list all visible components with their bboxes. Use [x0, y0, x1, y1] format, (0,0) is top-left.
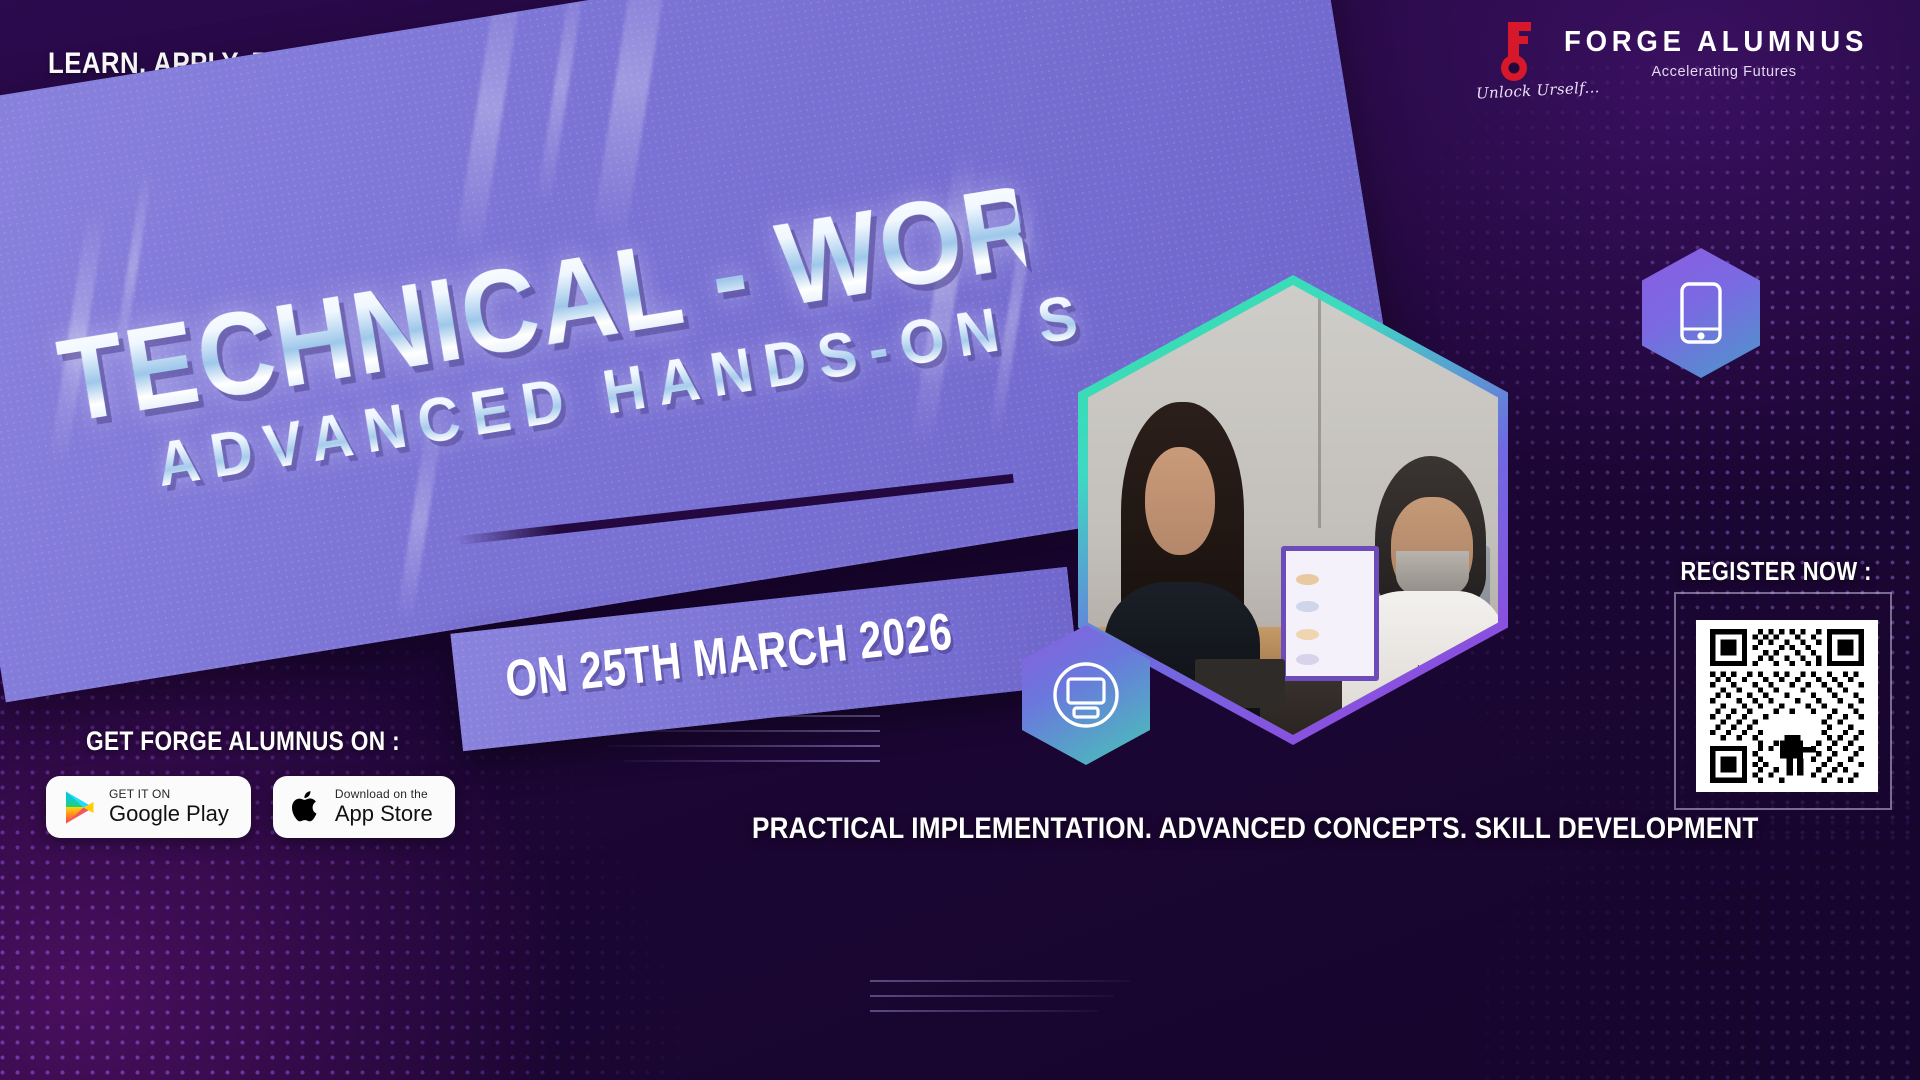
store-badge-small-text: Download on the	[335, 788, 433, 801]
register-now-label: REGISTER NOW :	[1681, 556, 1872, 587]
desktop-monitor-icon	[1048, 657, 1124, 733]
store-badge-name: App Store	[335, 802, 433, 826]
event-date: ON 25TH MARCH 2026	[503, 602, 956, 710]
app-store-badges: GET IT ON Google Play Download on the Ap…	[46, 776, 455, 838]
brand-slogan: Unlock Urself...	[1476, 79, 1577, 102]
google-play-icon	[64, 790, 96, 825]
mobile-phone-badge	[1642, 248, 1760, 378]
brand-mark: Unlock Urself...	[1490, 18, 1552, 98]
key-f-logo-icon	[1494, 20, 1548, 84]
brand-subtitle: Accelerating Futures	[1569, 63, 1879, 80]
shirt-logo: HACKFORGE	[1417, 665, 1465, 672]
decorative-lines-bottom	[870, 980, 1140, 1025]
footer-tagline: PRACTICAL IMPLEMENTATION. ADVANCED CONCE…	[752, 812, 1758, 846]
brand-name: FORGE ALUMNUS	[1564, 28, 1868, 57]
qr-code[interactable]	[1696, 620, 1878, 792]
qr-frame	[1674, 592, 1892, 810]
get-app-label: GET FORGE ALUMNUS ON :	[86, 726, 400, 757]
brand-logo: Unlock Urself... FORGE ALUMNUS Accelerat…	[1490, 18, 1884, 98]
app-store-badge[interactable]: Download on the App Store	[273, 776, 455, 838]
google-play-badge[interactable]: GET IT ON Google Play	[46, 776, 251, 838]
promo-banner: LEARN. APPLY. EXCEL. Unlock Urself... FO…	[0, 0, 1920, 1080]
mobile-phone-icon	[1678, 281, 1724, 345]
store-badge-small-text: GET IT ON	[109, 788, 229, 801]
store-badge-name: Google Play	[109, 802, 229, 826]
qr-code-icon	[1705, 629, 1869, 783]
apple-icon	[291, 789, 322, 825]
